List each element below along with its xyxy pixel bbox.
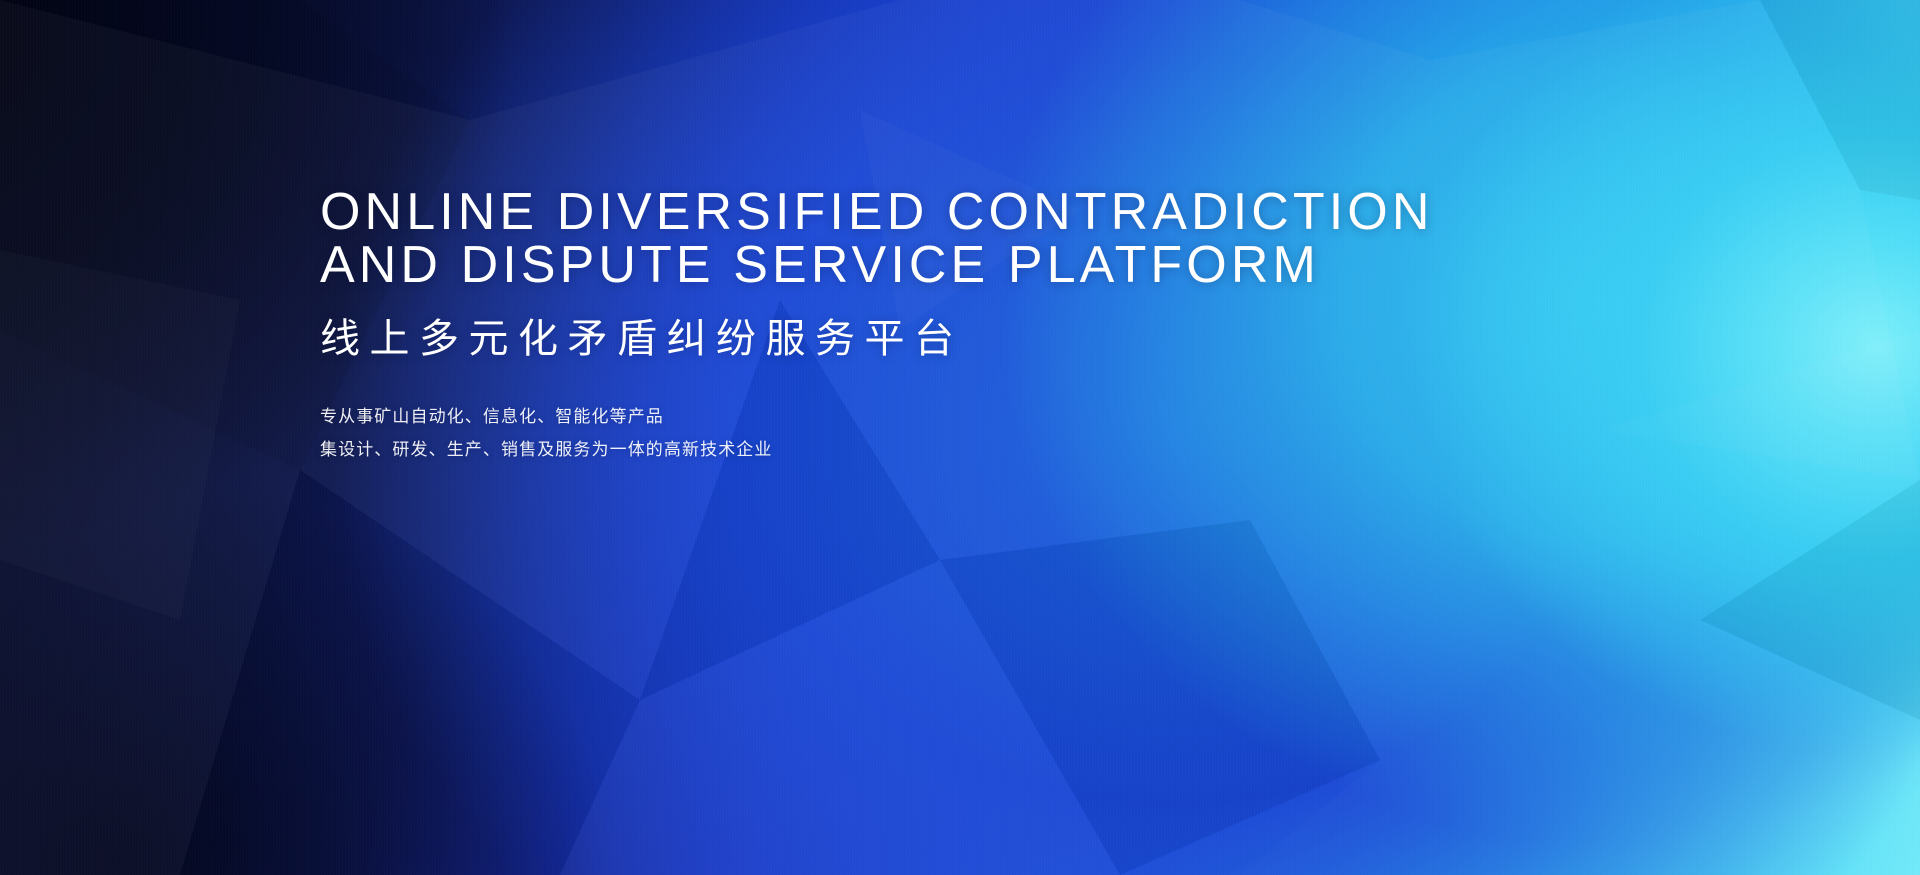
description-line-2: 集设计、研发、生产、销售及服务为一体的高新技术企业 [320,433,1700,466]
headline-line-1: ONLINE DIVERSIFIED CONTRADICTION [320,186,1700,239]
page-title: ONLINE DIVERSIFIED CONTRADICTION AND DIS… [320,186,1700,292]
page-subtitle: 线上多元化矛盾纠纷服务平台 [320,292,1700,367]
headline-line-2: AND DISPUTE SERVICE PLATFORM [320,239,1700,292]
hero-banner: ONLINE DIVERSIFIED CONTRADICTION AND DIS… [0,0,1920,875]
banner-description: 专从事矿山自动化、信息化、智能化等产品 集设计、研发、生产、销售及服务为一体的高… [320,367,1700,466]
description-line-1: 专从事矿山自动化、信息化、智能化等产品 [320,400,1700,433]
banner-content: ONLINE DIVERSIFIED CONTRADICTION AND DIS… [320,186,1700,466]
